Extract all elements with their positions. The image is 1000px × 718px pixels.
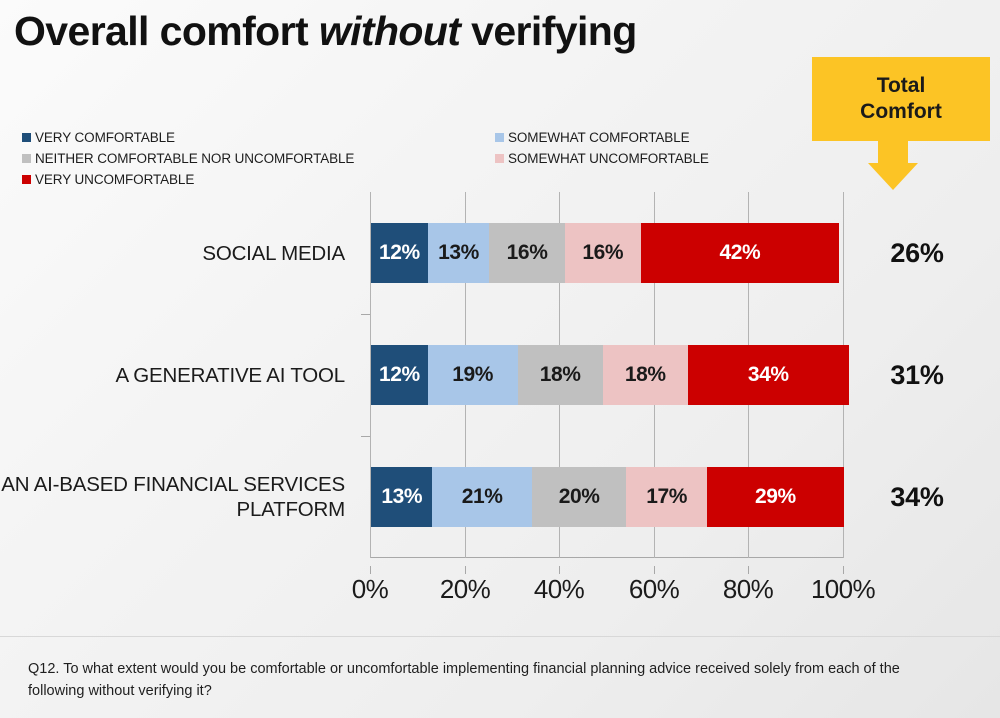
legend-label: VERY COMFORTABLE: [35, 130, 175, 145]
slide-canvas: Overall comfort without verifying Total …: [0, 0, 1000, 718]
title-part-after: verifying: [460, 8, 636, 54]
page-title: Overall comfort without verifying: [14, 8, 637, 55]
footer-divider: [0, 636, 1000, 637]
bar-segment[interactable]: 16%: [565, 223, 641, 283]
x-axis-tick-label: 80%: [693, 574, 803, 605]
chart-legend: VERY COMFORTABLESOMEWHAT COMFORTABLENEIT…: [22, 130, 782, 193]
y-axis-tick: [361, 314, 370, 315]
category-label-text: SOCIAL MEDIA: [202, 241, 345, 266]
x-axis-tick: [465, 566, 466, 574]
x-axis-tick: [748, 566, 749, 574]
legend-label: SOMEWHAT COMFORTABLE: [508, 130, 690, 145]
category-label: A GENERATIVE AI TOOL: [0, 345, 355, 405]
bar-segment[interactable]: 21%: [432, 467, 531, 527]
bar-segment[interactable]: 13%: [428, 223, 489, 283]
category-label: AN AI-BASED FINANCIAL SERVICES PLATFORM: [0, 467, 355, 527]
bar-segment[interactable]: 12%: [371, 345, 428, 405]
legend-label: NEITHER COMFORTABLE NOR UNCOMFORTABLE: [35, 151, 354, 166]
arrow-stem: [878, 141, 908, 163]
bar-segment[interactable]: 17%: [626, 467, 706, 527]
legend-label: SOMEWHAT UNCOMFORTABLE: [508, 151, 709, 166]
x-axis-tick: [370, 566, 371, 574]
total-comfort-value: 31%: [862, 360, 972, 391]
x-axis-ticks: 0%20%40%60%80%100%: [370, 566, 844, 600]
bar-segment[interactable]: 20%: [532, 467, 627, 527]
legend-item: VERY COMFORTABLE: [22, 130, 495, 145]
legend-swatch-icon: [22, 175, 31, 184]
bar-segment[interactable]: 34%: [688, 345, 849, 405]
stacked-bar-chart: 0%20%40%60%80%100% SOCIAL MEDIA12%13%16%…: [0, 186, 1000, 606]
legend-item: SOMEWHAT COMFORTABLE: [495, 130, 782, 145]
x-axis-tick: [654, 566, 655, 574]
bar-row[interactable]: 12%13%16%16%42%: [371, 223, 839, 283]
legend-swatch-icon: [22, 154, 31, 163]
bar-row[interactable]: 12%19%18%18%34%: [371, 345, 849, 405]
bar-segment[interactable]: 19%: [428, 345, 518, 405]
x-axis-tick: [559, 566, 560, 574]
bar-segment[interactable]: 18%: [518, 345, 603, 405]
legend-swatch-icon: [22, 133, 31, 142]
total-comfort-value: 34%: [862, 482, 972, 513]
title-emphasis: without: [319, 8, 461, 54]
category-label-text: A GENERATIVE AI TOOL: [115, 363, 345, 388]
legend-item: VERY UNCOMFORTABLE: [22, 172, 495, 187]
bar-segment[interactable]: 29%: [707, 467, 844, 527]
legend-row: NEITHER COMFORTABLE NOR UNCOMFORTABLESOM…: [22, 151, 782, 172]
total-comfort-value: 26%: [862, 238, 972, 269]
title-part-before: Overall comfort: [14, 8, 319, 54]
bar-row[interactable]: 13%21%20%17%29%: [371, 467, 844, 527]
category-label: SOCIAL MEDIA: [0, 223, 355, 283]
legend-swatch-icon: [495, 133, 504, 142]
legend-row: VERY COMFORTABLESOMEWHAT COMFORTABLE: [22, 130, 782, 151]
category-label-text: AN AI-BASED FINANCIAL SERVICES PLATFORM: [0, 472, 345, 522]
y-axis-tick: [361, 436, 370, 437]
callout-line-2: Comfort: [860, 99, 942, 125]
legend-label: VERY UNCOMFORTABLE: [35, 172, 194, 187]
legend-item: SOMEWHAT UNCOMFORTABLE: [495, 151, 782, 166]
question-footnote: Q12. To what extent would you be comfort…: [28, 658, 908, 703]
callout-line-1: Total: [877, 73, 926, 99]
x-axis-tick-label: 100%: [788, 574, 898, 605]
x-axis-tick-label: 40%: [504, 574, 614, 605]
bar-segment[interactable]: 18%: [603, 345, 688, 405]
legend-item: NEITHER COMFORTABLE NOR UNCOMFORTABLE: [22, 151, 495, 166]
bar-segment[interactable]: 42%: [641, 223, 840, 283]
x-axis-tick-label: 0%: [315, 574, 425, 605]
x-axis-tick: [843, 566, 844, 574]
total-comfort-callout: Total Comfort: [812, 57, 990, 141]
legend-swatch-icon: [495, 154, 504, 163]
bar-segment[interactable]: 12%: [371, 223, 428, 283]
bar-segment[interactable]: 13%: [371, 467, 432, 527]
bar-segment[interactable]: 16%: [489, 223, 565, 283]
